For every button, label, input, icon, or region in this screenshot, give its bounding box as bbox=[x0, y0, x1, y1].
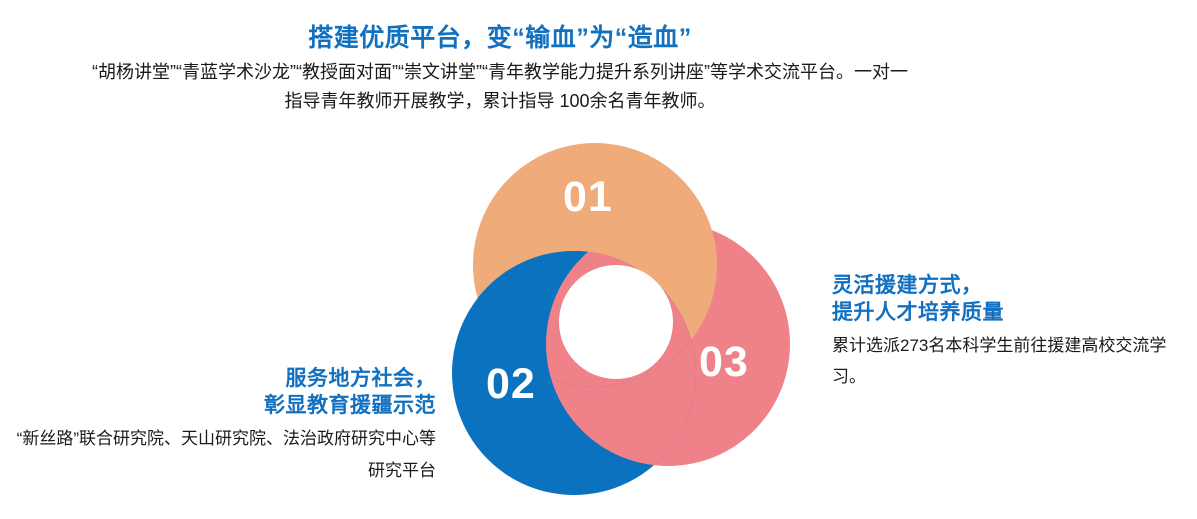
infographic-canvas: 搭建优质平台，变“输血”为“造血” “胡杨讲堂”“青蓝学术沙龙”“教授面对面”“… bbox=[0, 0, 1197, 519]
ring-number-01: 01 bbox=[563, 176, 613, 219]
three-circle-diagram: 01 02 03 bbox=[440, 138, 810, 508]
body-top: “胡杨讲堂”“青蓝学术沙龙”“教授面对面”“崇文讲堂”“青年教学能力提升系列讲座… bbox=[90, 58, 910, 116]
heading-top: 搭建优质平台，变“输血”为“造血” bbox=[0, 22, 1000, 54]
ring-number-02: 02 bbox=[486, 363, 536, 406]
trefoil-svg bbox=[440, 138, 810, 508]
text-block-left: 服务地方社会， 彰显教育援疆示范 “新丝路”联合研究院、天山研究院、法治政府研究… bbox=[0, 365, 436, 487]
body-right: 累计选派273名本科学生前往援建高校交流学习。 bbox=[832, 330, 1192, 392]
body-left: “新丝路”联合研究院、天山研究院、法治政府研究中心等研究平台 bbox=[0, 423, 436, 487]
text-block-top: 搭建优质平台，变“输血”为“造血” “胡杨讲堂”“青蓝学术沙龙”“教授面对面”“… bbox=[0, 22, 1000, 116]
heading-left-line1: 服务地方社会， bbox=[0, 365, 436, 392]
heading-right-line2: 提升人才培养质量 bbox=[832, 299, 1192, 326]
heading-left-line2: 彰显教育援疆示范 bbox=[0, 392, 436, 419]
heading-right-line1: 灵活援建方式， bbox=[832, 272, 1192, 299]
ring-number-03: 03 bbox=[699, 341, 749, 384]
text-block-right: 灵活援建方式， 提升人才培养质量 累计选派273名本科学生前往援建高校交流学习。 bbox=[832, 272, 1192, 392]
